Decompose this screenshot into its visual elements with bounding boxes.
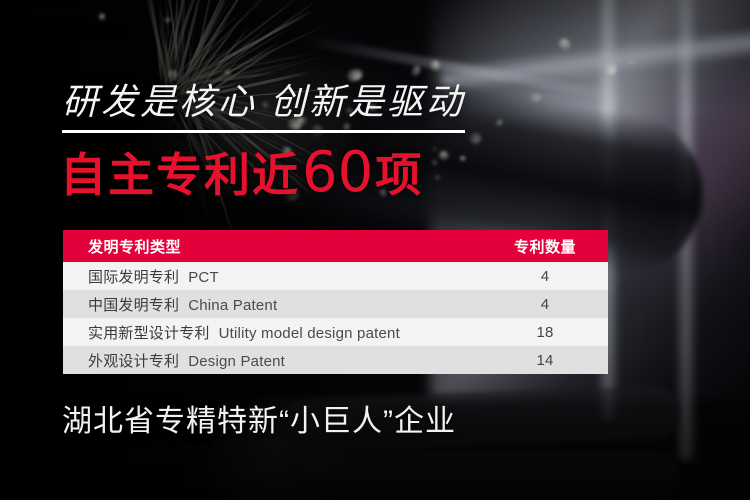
- patent-table: 发明专利类型 专利数量 国际发明专利PCT4中国发明专利China Patent…: [63, 230, 608, 374]
- headline-primary: 研发是核心 创新是驱动: [62, 80, 465, 124]
- column-header-type: 发明专利类型: [63, 230, 490, 262]
- patent-table-body: 国际发明专利PCT4中国发明专利China Patent4实用新型设计专利Uti…: [63, 262, 608, 374]
- patent-type-cn: 国际发明专利: [88, 269, 179, 286]
- banner-content: 研发是核心 创新是驱动 自主专利近 60 项 发明专利类型 专利数量 国际发明专…: [0, 0, 750, 500]
- cell-patent-type: 国际发明专利PCT: [63, 262, 490, 290]
- cell-patent-type: 中国发明专利China Patent: [63, 290, 490, 318]
- patent-type-en: Utility model design patent: [219, 325, 400, 342]
- table-header-row: 发明专利类型 专利数量: [63, 230, 608, 262]
- cell-patent-type: 外观设计专利Design Patent: [63, 346, 490, 374]
- patent-type-cn: 中国发明专利: [88, 297, 179, 314]
- cell-patent-count: 4: [490, 262, 608, 290]
- cell-patent-type: 实用新型设计专利Utility model design patent: [63, 318, 490, 346]
- column-header-count: 专利数量: [490, 230, 608, 262]
- patent-type-en: Design Patent: [188, 353, 285, 370]
- cell-patent-count: 14: [490, 346, 608, 374]
- patent-banner: 研发是核心 创新是驱动 自主专利近 60 项 发明专利类型 专利数量 国际发明专…: [0, 0, 750, 500]
- footer-tagline: 湖北省专精特新“小巨人”企业: [62, 402, 456, 442]
- patent-table-head: 发明专利类型 专利数量: [63, 230, 608, 262]
- cell-patent-count: 4: [490, 290, 608, 318]
- headline-secondary-prefix: 自主专利近: [60, 147, 300, 203]
- patent-type-cn: 实用新型设计专利: [88, 325, 210, 342]
- table-row: 外观设计专利Design Patent14: [63, 346, 608, 374]
- patent-type-cn: 外观设计专利: [88, 353, 179, 370]
- patent-type-en: China Patent: [188, 297, 277, 314]
- table-row: 国际发明专利PCT4: [63, 262, 608, 290]
- table-row: 实用新型设计专利Utility model design patent18: [63, 318, 608, 346]
- patent-type-en: PCT: [188, 269, 219, 286]
- cell-patent-count: 18: [490, 318, 608, 346]
- headline-secondary: 自主专利近 60 项: [60, 145, 423, 203]
- headline-divider: [62, 130, 465, 133]
- table-row: 中国发明专利China Patent4: [63, 290, 608, 318]
- headline-secondary-suffix: 项: [375, 147, 423, 203]
- patent-total-number: 60: [300, 145, 375, 201]
